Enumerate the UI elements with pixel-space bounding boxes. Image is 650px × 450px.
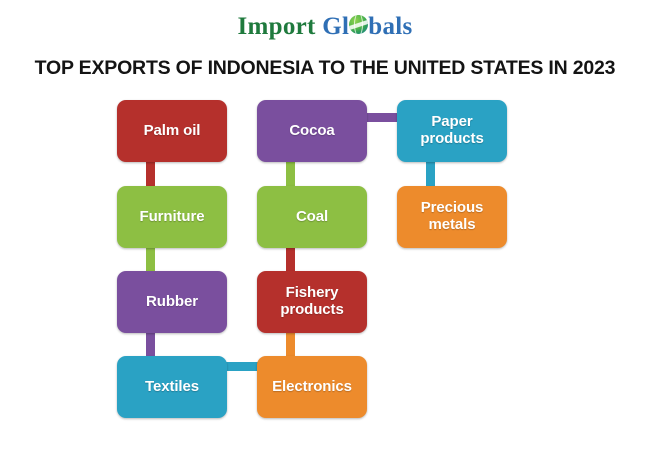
node-label: Palm oil — [144, 123, 201, 140]
node-coal[interactable]: Coal — [257, 186, 367, 248]
node-palm-oil[interactable]: Palm oil — [117, 100, 227, 162]
node-electronics[interactable]: Electronics — [257, 356, 367, 418]
node-label: Textiles — [145, 379, 199, 396]
node-cocoa[interactable]: Cocoa — [257, 100, 367, 162]
node-label: Furniture — [140, 209, 205, 226]
node-textiles[interactable]: Textiles — [117, 356, 227, 418]
node-label: Paper products — [403, 114, 501, 148]
node-label: Precious metals — [403, 200, 501, 234]
exports-flow-diagram: Palm oil Furniture Rubber Textiles Cocoa… — [0, 0, 650, 450]
node-furniture[interactable]: Furniture — [117, 186, 227, 248]
node-label: Cocoa — [289, 123, 334, 140]
node-precious-metals[interactable]: Precious metals — [397, 186, 507, 248]
node-label: Electronics — [272, 379, 352, 396]
node-label: Coal — [296, 209, 328, 226]
node-fishery-products[interactable]: Fishery products — [257, 271, 367, 333]
node-paper-products[interactable]: Paper products — [397, 100, 507, 162]
node-label: Rubber — [146, 294, 198, 311]
node-label: Fishery products — [263, 285, 361, 319]
node-rubber[interactable]: Rubber — [117, 271, 227, 333]
